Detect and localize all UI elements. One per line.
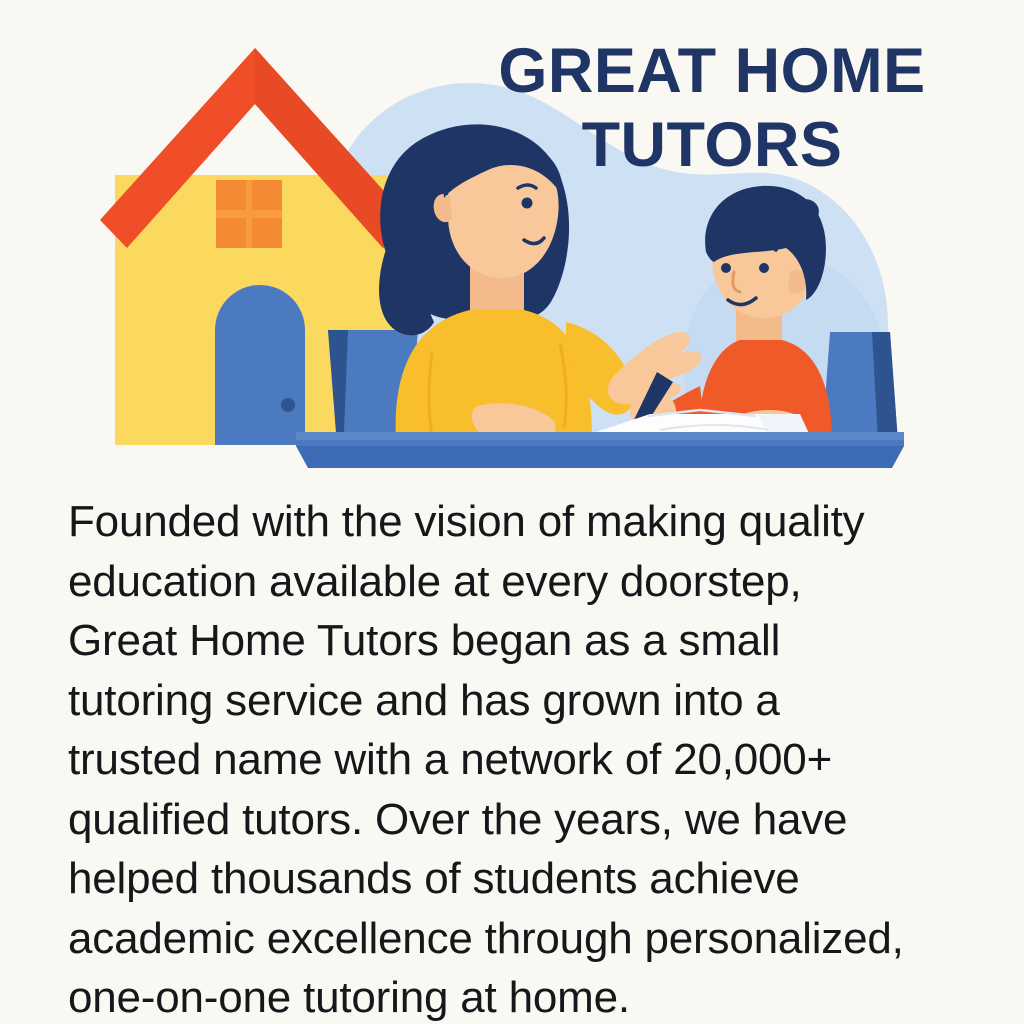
hero-illustration: GREAT HOME TUTORS xyxy=(0,0,1024,470)
paragraph-line: Great Home Tutors began as a small xyxy=(68,611,998,671)
house-window xyxy=(216,180,282,248)
paragraph-line: education available at every doorstep, xyxy=(68,552,998,612)
student-eye-right xyxy=(759,263,769,273)
paragraph-line: Founded with the vision of making qualit… xyxy=(68,492,998,552)
illustration-svg xyxy=(0,0,1024,470)
door-knob-icon xyxy=(281,398,295,412)
body-paragraph: Founded with the vision of making qualit… xyxy=(68,492,998,1024)
paragraph-line: qualified tutors. Over the years, we hav… xyxy=(68,790,998,850)
desk-shadow xyxy=(296,432,904,440)
paragraph-line: tutoring service and has grown into a xyxy=(68,671,998,731)
desk-front-edge xyxy=(296,446,904,468)
paragraph-line: trusted name with a network of 20,000+ xyxy=(68,730,998,790)
student-eye-left xyxy=(721,263,731,273)
paragraph-line: helped thousands of students achieve xyxy=(68,849,998,909)
student-chair xyxy=(822,332,898,442)
house-door xyxy=(215,285,305,445)
tutor-eye xyxy=(522,198,533,209)
desk xyxy=(296,432,904,468)
poster-canvas: GREAT HOME TUTORS Founded with the visio… xyxy=(0,0,1024,1024)
paragraph-line: academic excellence through personalized… xyxy=(68,909,998,969)
paragraph-line: one-on-one tutoring at home. xyxy=(68,968,998,1024)
